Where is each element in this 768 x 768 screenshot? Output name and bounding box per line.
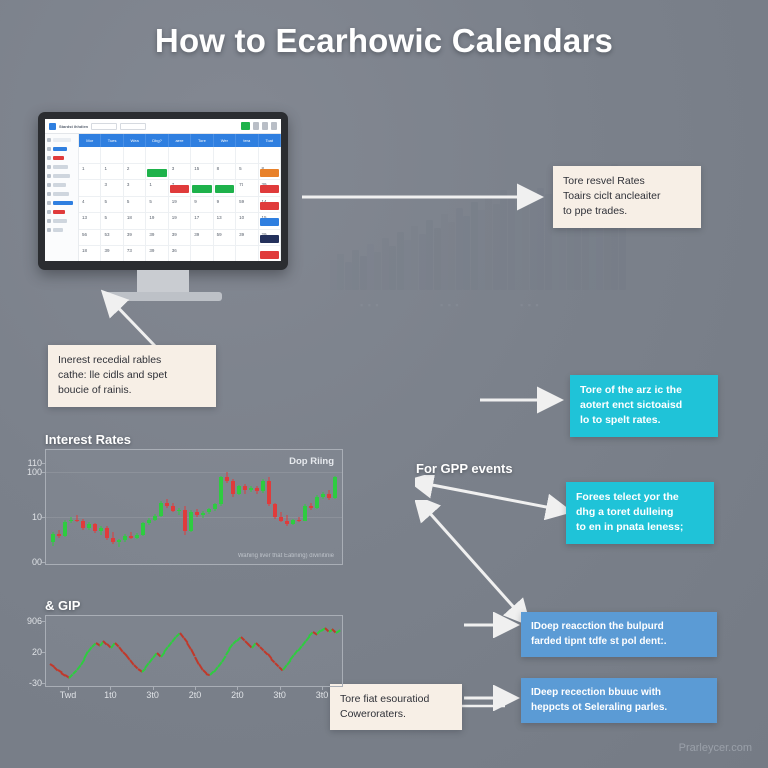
calendar-day-cell[interactable]: 29	[259, 230, 281, 247]
chart-plot-area: Dop Riing Wahing liver that Eatining) di…	[45, 449, 343, 565]
calendar-day-number: 13	[217, 215, 222, 220]
calendar-day-cell[interactable]: 18	[79, 246, 101, 261]
chart-plot-area: 90620-30Twd1t03t02t02t03t03t0	[45, 615, 343, 687]
candlestick	[105, 450, 109, 566]
callout-line: to ppe trades.	[563, 204, 691, 219]
site-watermark: Prarleycer.com	[679, 742, 752, 754]
callout-left: Inerest recedial rables cathe: lle cidls…	[48, 345, 216, 407]
candlestick	[195, 450, 199, 566]
y-axis-tick-label: 20	[32, 647, 42, 657]
arrow-to-cyan-callout-1	[478, 385, 568, 415]
calendar-day-cell[interactable]: 39	[146, 246, 168, 261]
candlestick	[75, 450, 79, 566]
calendar-day-number: 10	[239, 215, 244, 220]
callout-blue-1: IDoep reacction the bulpurd farded tipnt…	[521, 612, 717, 657]
calendar-event-chip[interactable]	[260, 202, 279, 210]
x-axis-tick	[153, 686, 154, 690]
calendar-day-cell[interactable]: 15	[259, 213, 281, 230]
x-axis-tick	[237, 686, 238, 690]
y-axis-tick-label: 10	[32, 512, 42, 522]
calendar-day-cell[interactable]	[191, 180, 213, 197]
x-axis-tick-label: 2t0	[231, 690, 244, 700]
calendar-day-cell[interactable]	[101, 147, 123, 164]
candlestick	[261, 450, 265, 566]
candlestick	[225, 450, 229, 566]
candlestick	[285, 450, 289, 566]
candlestick	[81, 450, 85, 566]
calendar-day-cell[interactable]: 39	[169, 230, 191, 247]
callout-line: Tore fiat esouratiod	[340, 692, 452, 707]
calendar-day-number: 15	[194, 166, 199, 171]
app-sidebar-item[interactable]	[47, 209, 76, 215]
callout-line: boucie of rainis.	[58, 383, 206, 398]
calendar-day-cell[interactable]: 13	[214, 213, 236, 230]
app-sidebar-item[interactable]	[47, 173, 76, 179]
candlestick	[279, 450, 283, 566]
app-sidebar-item[interactable]	[47, 200, 76, 206]
calendar-day-number: 19	[172, 215, 177, 220]
x-axis-tick-label: Twd	[60, 690, 77, 700]
y-axis-tick-label: 100	[27, 467, 42, 477]
calendar-day-number: 19	[149, 215, 154, 220]
calendar-day-cell[interactable]	[236, 246, 258, 261]
calendar-day-number: 8	[217, 166, 220, 171]
x-axis-tick	[68, 686, 69, 690]
calendar-day-number: 7t	[239, 182, 243, 187]
calendar-day-cell[interactable]: 19	[169, 197, 191, 214]
calendar-day-number: 39	[172, 232, 177, 237]
calendar-day-number: 53	[104, 232, 109, 237]
calendar-day-cell[interactable]: 5	[146, 197, 168, 214]
callout-line: Tore resvel Rates	[563, 174, 691, 189]
callout-line: Inerest recedial rables	[58, 353, 206, 368]
calendar-day-cell[interactable]: 19	[169, 213, 191, 230]
candlestick	[57, 450, 61, 566]
calendar-day-number: 39	[104, 248, 109, 253]
calendar-day-cell[interactable]: 59	[236, 197, 258, 214]
calendar-weekday-header: Toat	[259, 134, 281, 147]
candlestick	[153, 450, 157, 566]
calendar-weekday-header: Wer	[214, 134, 236, 147]
calendar-day-cell[interactable]: 5	[124, 197, 146, 214]
calendar-day-number: 36	[172, 248, 177, 253]
calendar-day-cell[interactable]: 18	[124, 213, 146, 230]
calendar-day-cell[interactable]: 39	[191, 230, 213, 247]
candlestick	[231, 450, 235, 566]
callout-line: IDoep reacction the bulpurd	[531, 620, 707, 635]
calendar-event-chip[interactable]	[260, 251, 279, 259]
callout-line: cathe: lle cidls and spet	[58, 368, 206, 383]
calendar-day-cell[interactable]: 39	[101, 246, 123, 261]
candlestick	[159, 450, 163, 566]
app-body: MorTuesWeaDbg?aereToreWerteraToat 112315…	[45, 134, 281, 261]
candlestick	[171, 450, 175, 566]
calendar-day-number: 39	[127, 232, 132, 237]
bg-axis-label-2: ▪ ▪ ▪	[440, 300, 460, 310]
callout-cyan-2: Forees telect yor the dhg a toret dullei…	[566, 482, 714, 544]
calendar-day-number: 1	[82, 166, 85, 171]
calendar-day-number: 5	[239, 166, 242, 171]
calendar-event-chip[interactable]	[260, 185, 279, 193]
calendar-day-number: 18	[82, 248, 87, 253]
callout-top-right: Tore resvel Rates Toairs ciclt ancleaite…	[553, 166, 701, 228]
callout-line: aotert enct sictoaisd	[580, 398, 708, 413]
callout-line: dhg a toret dulleing	[576, 505, 704, 520]
candlestick	[93, 450, 97, 566]
calendar-day-cell[interactable]: 39	[124, 230, 146, 247]
calendar-day-cell[interactable]: 5	[236, 164, 258, 181]
calendar-day-number: 13	[82, 215, 87, 220]
calendar-day-cell[interactable]	[259, 246, 281, 261]
callout-line: Toairs ciclt ancleaiter	[563, 189, 691, 204]
y-axis-tick	[42, 652, 46, 653]
monitor-stand-base	[104, 292, 222, 301]
app-filter-1[interactable]	[91, 123, 117, 130]
calendar-day-cell[interactable]: 3	[169, 164, 191, 181]
calendar-day-cell[interactable]: 73	[124, 246, 146, 261]
calendar-day-cell[interactable]	[191, 147, 213, 164]
calendar-day-number: 39	[149, 232, 154, 237]
candlestick	[249, 450, 253, 566]
line-segment	[76, 665, 81, 671]
monitor-bezel: Stardst ihhdien MorTuesWeaDbg?aereToreWe…	[38, 112, 288, 270]
calendar-day-number: 59	[217, 232, 222, 237]
calendar-day-number: 56	[82, 232, 87, 237]
y-axis-tick	[42, 683, 46, 684]
infographic-canvas: How to Ecarhowic Calendars ▪ ▪ ▪ ▪ ▪ ▪ ▪…	[0, 0, 768, 768]
calendar-day-cell[interactable]: 7t	[236, 180, 258, 197]
calendar-day-number: 18	[127, 215, 132, 220]
y-axis-tick	[42, 463, 46, 464]
bg-axis-label-3: ▪ ▪ ▪	[520, 300, 540, 310]
x-axis-tick	[280, 686, 281, 690]
candlestick	[267, 450, 271, 566]
calendar-day-cell[interactable]: 53	[101, 230, 123, 247]
x-axis-tick-label: 3t0	[146, 690, 159, 700]
calendar-day-cell[interactable]: 36	[169, 246, 191, 261]
line-segment	[336, 630, 341, 634]
calendar-day-number: 4	[82, 199, 85, 204]
callout-line: to en in pnata leness;	[576, 520, 704, 535]
app-brand-label: Stardst ihhdien	[59, 124, 88, 129]
chart-title: Interest Rates	[45, 432, 343, 447]
calendar-weekday-header: Wea	[124, 134, 146, 147]
calendar-day-cell[interactable]: 8	[259, 164, 281, 181]
calendar-event-chip[interactable]	[192, 185, 211, 193]
calendar-event-chip[interactable]	[170, 185, 189, 193]
gpp-events-label: For GPP events	[416, 461, 513, 476]
calendar-day-cell[interactable]: 9	[191, 197, 213, 214]
bg-axis-label-1: ▪ ▪ ▪	[360, 300, 380, 310]
calendar-event-chip[interactable]	[147, 169, 166, 177]
callout-bottom-cream: Tore fiat esouratiod Coweroraters.	[330, 684, 462, 730]
interest-rates-chart: Interest Rates Dop Riing Wahing liver th…	[45, 432, 343, 565]
calendar-day-number: 39	[239, 232, 244, 237]
calendar-day-cell[interactable]	[214, 147, 236, 164]
calendar-day-cell[interactable]: 1	[79, 164, 101, 181]
candlestick	[165, 450, 169, 566]
calendar-day-cell[interactable]	[214, 180, 236, 197]
arrow-to-blue-callout-1	[462, 612, 524, 638]
calendar-weekday-header: aere	[169, 134, 191, 147]
calendar-weekday-header: Dbg?	[146, 134, 168, 147]
app-icon-1[interactable]	[253, 122, 259, 130]
x-axis-tick	[110, 686, 111, 690]
calendar-day-number: 3	[104, 182, 107, 187]
calendar-day-number: 5	[104, 215, 107, 220]
candlestick	[141, 450, 145, 566]
candlestick	[99, 450, 103, 566]
x-axis-tick-label: 3t0	[273, 690, 286, 700]
candlestick	[309, 450, 313, 566]
calendar-day-number: 19	[172, 199, 177, 204]
candlestick	[303, 450, 307, 566]
app-logo-icon	[49, 123, 56, 130]
candlestick	[129, 450, 133, 566]
calendar-day-cell[interactable]: 3	[101, 180, 123, 197]
arrow-double-gpp-to-cyan-2	[415, 475, 580, 520]
calendar-day-number: 5	[149, 199, 152, 204]
calendar-day-number: 17	[194, 215, 199, 220]
calendar-day-cell[interactable]	[169, 147, 191, 164]
app-sidebar-item[interactable]	[47, 137, 76, 143]
calendar-day-number: 5	[127, 199, 130, 204]
calendar-day-cell[interactable]: 2	[124, 164, 146, 181]
callout-line: Tore of the arz ic the	[580, 383, 708, 398]
app-sidebar-item[interactable]	[47, 182, 76, 188]
candlestick	[69, 450, 73, 566]
calendar-day-cell[interactable]: 39	[259, 180, 281, 197]
calendar-day-number: 39	[149, 248, 154, 253]
calendar-day-cell[interactable]: 4	[79, 197, 101, 214]
calendar-day-cell[interactable]: 5	[101, 213, 123, 230]
candlestick	[147, 450, 151, 566]
candlestick	[321, 450, 325, 566]
app-sidebar-item[interactable]	[47, 227, 76, 233]
x-axis-tick	[195, 686, 196, 690]
calendar-day-number: 1	[104, 166, 107, 171]
calendar-day-cell[interactable]: 39	[236, 230, 258, 247]
candlestick	[273, 450, 277, 566]
calendar-day-cell[interactable]: 8	[214, 164, 236, 181]
calendar-day-cell[interactable]: 10	[236, 213, 258, 230]
line-segment	[80, 659, 86, 666]
x-axis-tick-label: 1t0	[104, 690, 117, 700]
candlestick	[327, 450, 331, 566]
calendar-day-cell[interactable]: 3	[124, 180, 146, 197]
calendar-day-number: 2	[127, 166, 130, 171]
candlestick	[219, 450, 223, 566]
calendar-event-chip[interactable]	[260, 218, 279, 226]
calendar-grid[interactable]: 11231585833177t3945551999591413518191917…	[79, 147, 281, 261]
callout-blue-2: IDeep recection bbuuc with heppcts ot Se…	[521, 678, 717, 723]
calendar-day-number: 9	[217, 199, 220, 204]
candlestick	[213, 450, 217, 566]
calendar-day-cell[interactable]: 5	[101, 197, 123, 214]
calendar-day-cell[interactable]: 9	[214, 197, 236, 214]
calendar-event-chip[interactable]	[260, 235, 279, 243]
calendar-day-cell[interactable]: 39	[146, 230, 168, 247]
calendar-day-cell[interactable]	[79, 147, 101, 164]
candlestick	[291, 450, 295, 566]
y-axis-tick-label: 00	[32, 557, 42, 567]
candlestick	[333, 450, 337, 566]
calendar-day-cell[interactable]: 1	[146, 180, 168, 197]
app-icon-3[interactable]	[271, 122, 277, 130]
candlestick	[189, 450, 193, 566]
candlestick	[51, 450, 55, 566]
app-filter-2[interactable]	[120, 123, 146, 130]
y-axis-tick-label: -30	[29, 678, 42, 688]
line-segment	[221, 655, 227, 662]
calendar-weekday-header: tera	[236, 134, 258, 147]
calendar-day-cell[interactable]	[191, 246, 213, 261]
calendar-day-number: 1	[149, 182, 152, 187]
x-axis-tick-label: 3t0	[316, 690, 329, 700]
candlestick	[243, 450, 247, 566]
candlestick	[87, 450, 91, 566]
x-axis-tick-label: 2t0	[189, 690, 202, 700]
monitor-stand-neck	[137, 270, 189, 292]
calendar-day-cell[interactable]	[79, 180, 101, 197]
candlestick	[237, 450, 241, 566]
y-axis-tick	[42, 562, 46, 563]
app-sidebar-item[interactable]	[47, 146, 76, 152]
calendar-weekday-header: Tues	[101, 134, 123, 147]
calendar-day-number: 73	[127, 248, 132, 253]
arrow-from-bottom-cream-callout	[455, 695, 513, 717]
y-axis-tick-label: 906	[27, 616, 42, 626]
app-sidebar-item[interactable]	[47, 155, 76, 161]
candlestick	[111, 450, 115, 566]
app-action-button[interactable]	[241, 122, 250, 130]
calendar-weekday-header: Tore	[191, 134, 213, 147]
x-axis-tick	[322, 686, 323, 690]
candlestick	[117, 450, 121, 566]
candlestick	[315, 450, 319, 566]
calendar-day-cell[interactable]: 56	[79, 230, 101, 247]
calendar-day-cell[interactable]: 17	[191, 213, 213, 230]
calendar-day-number: 39	[194, 232, 199, 237]
calendar-weekday-header: Mor	[79, 134, 101, 147]
candlestick	[297, 450, 301, 566]
app-icon-2[interactable]	[262, 122, 268, 130]
callout-line: lo to spelt rates.	[580, 413, 708, 428]
callout-line: Coweroraters.	[340, 707, 452, 722]
candlestick	[63, 450, 67, 566]
calendar-day-cell[interactable]	[146, 147, 168, 164]
candlestick	[123, 450, 127, 566]
calendar-day-cell[interactable]	[124, 147, 146, 164]
monitor-illustration: Stardst ihhdien MorTuesWeaDbg?aereToreWe…	[38, 112, 288, 301]
app-topbar: Stardst ihhdien	[45, 119, 281, 134]
calendar-day-number: 59	[239, 199, 244, 204]
chart-title: & GIP	[45, 598, 343, 613]
calendar-day-cell[interactable]	[146, 164, 168, 181]
calendar-day-cell[interactable]: 19	[146, 213, 168, 230]
calendar-day-cell[interactable]: 1	[101, 164, 123, 181]
calendar-day-cell[interactable]: 59	[214, 230, 236, 247]
candlestick	[255, 450, 259, 566]
monitor-screen[interactable]: Stardst ihhdien MorTuesWeaDbg?aereToreWe…	[45, 119, 281, 261]
app-sidebar-item[interactable]	[47, 191, 76, 197]
candlestick	[135, 450, 139, 566]
candlestick	[177, 450, 181, 566]
calendar-event-chip[interactable]	[215, 185, 234, 193]
y-axis-tick	[42, 621, 46, 622]
arrow-to-blue-callout-2	[462, 685, 524, 711]
calendar-header-row: MorTuesWeaDbg?aereToreWerteraToat	[79, 134, 281, 147]
app-sidebar[interactable]	[45, 134, 79, 261]
calendar-day-cell[interactable]	[236, 147, 258, 164]
candlestick	[183, 450, 187, 566]
calendar-day-cell[interactable]: 7	[169, 180, 191, 197]
gip-chart: & GIP 90620-30Twd1t03t02t02t03t03t0	[45, 598, 343, 687]
candlestick	[207, 450, 211, 566]
app-sidebar-item[interactable]	[47, 218, 76, 224]
callout-line: Forees telect yor the	[576, 490, 704, 505]
app-sidebar-item[interactable]	[47, 164, 76, 170]
calendar-day-number: 9	[194, 199, 197, 204]
line-segment	[282, 665, 287, 671]
callout-line: heppcts ot Seleraling parles.	[531, 701, 707, 716]
candlestick	[201, 450, 205, 566]
calendar-day-number: 3	[172, 166, 175, 171]
app-calendar: MorTuesWeaDbg?aereToreWerteraToat 112315…	[79, 134, 281, 261]
calendar-day-number: 3	[127, 182, 130, 187]
calendar-day-cell[interactable]	[214, 246, 236, 261]
calendar-day-cell[interactable]: 14	[259, 197, 281, 214]
callout-line: IDeep recection bbuuc with	[531, 686, 707, 701]
calendar-event-chip[interactable]	[260, 169, 279, 177]
callout-line: farded tipnt tdfe st pol dent:.	[531, 635, 707, 650]
calendar-day-cell[interactable]	[259, 147, 281, 164]
calendar-day-cell[interactable]: 15	[191, 164, 213, 181]
calendar-day-number: 5	[104, 199, 107, 204]
callout-cyan-1: Tore of the arz ic the aotert enct sicto…	[570, 375, 718, 437]
page-title: How to Ecarhowic Calendars	[0, 22, 768, 60]
calendar-day-cell[interactable]: 13	[79, 213, 101, 230]
